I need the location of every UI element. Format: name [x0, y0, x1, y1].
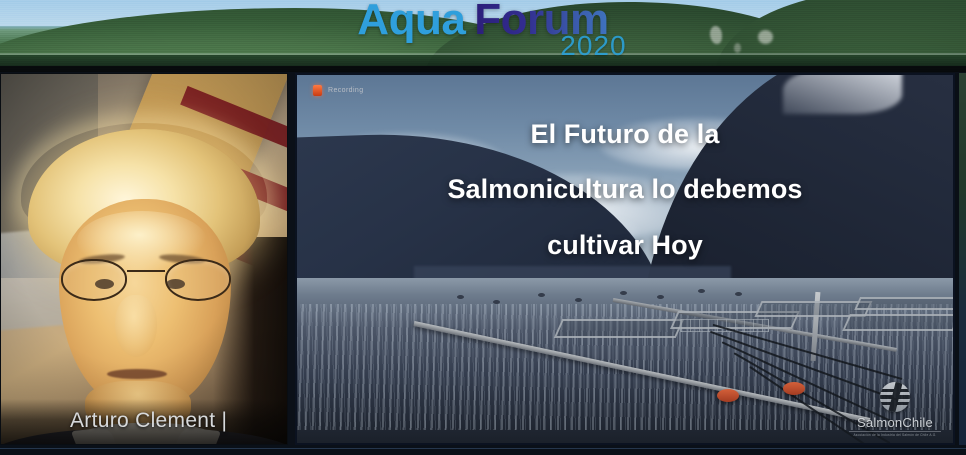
- salmonchile-tagline: Asociación de la Industria del Salmón de…: [849, 431, 941, 437]
- salmonchile-logo: SalmonChile Asociación de la Industria d…: [849, 382, 941, 437]
- water-marker: [698, 289, 705, 293]
- pen-cage: [554, 319, 684, 338]
- right-edge-inner: [955, 73, 959, 455]
- participant-name-label: Arturo Clement |: [70, 409, 227, 433]
- bottom-bar: [0, 445, 966, 455]
- tile-divider: [288, 73, 295, 455]
- slide-title: El Futuro de la Salmonicultura lo debemo…: [295, 107, 955, 273]
- video-vignette: [0, 73, 288, 445]
- logo-year: 2020: [560, 30, 626, 62]
- bottom-hairline: [0, 448, 966, 449]
- slide-title-line-3: cultivar Hoy: [295, 218, 955, 273]
- pen-net-frame: [680, 319, 769, 332]
- slide-title-line-2: Salmonicultura lo debemos: [295, 162, 955, 217]
- logo-word-aqua: Aqua: [357, 0, 465, 42]
- buoy: [783, 382, 805, 395]
- pen-cage: [854, 297, 955, 310]
- participant-video-tile[interactable]: Arturo Clement |: [0, 73, 288, 445]
- globe-logo-icon: [880, 382, 910, 412]
- salmonchile-name: SalmonChile: [849, 415, 941, 430]
- record-dot-icon: [313, 85, 322, 96]
- shared-screen-slide[interactable]: El Futuro de la Salmonicultura lo debemo…: [295, 73, 955, 445]
- pen-cage: [842, 314, 955, 331]
- right-edge-strip: [955, 73, 966, 455]
- recording-label: Recording: [328, 87, 364, 94]
- water-marker: [620, 291, 627, 295]
- aqua-forum-logo: AquaForum 2020: [0, 0, 966, 72]
- webinar-screen: AquaForum 2020: [0, 0, 966, 455]
- slide-title-line-1: El Futuro de la: [295, 107, 955, 162]
- recording-indicator[interactable]: Recording: [313, 85, 364, 96]
